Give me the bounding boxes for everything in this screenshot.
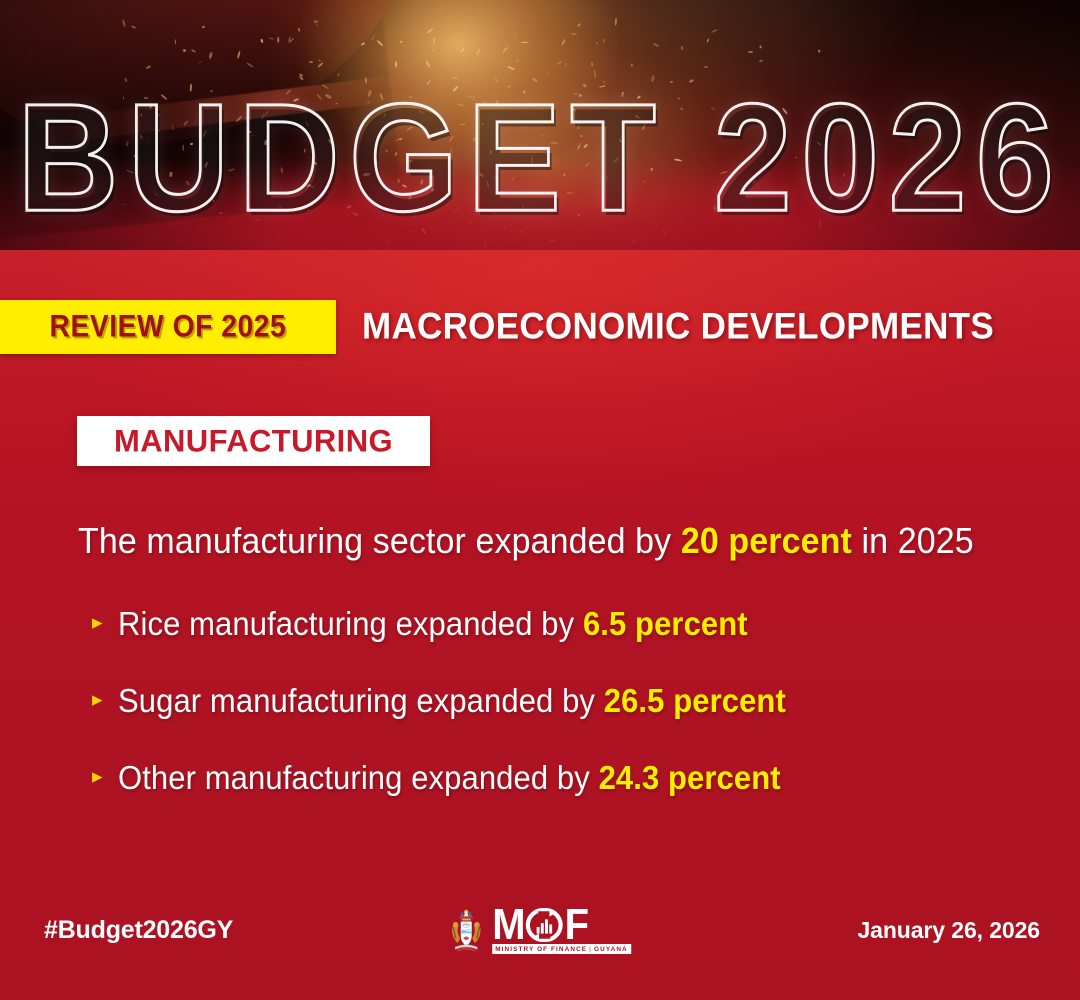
review-year-chip-label: REVIEW OF 2025	[50, 309, 287, 345]
banner-title: MACROECONOMIC DEVELOPMENTS	[336, 299, 1080, 356]
cycle-bar-chart-icon	[526, 908, 564, 942]
triangle-bullet-icon: ▸	[92, 683, 118, 715]
mof-logo-lockup: M	[449, 908, 631, 954]
bullet-highlight-value: 26.5 percent	[604, 682, 786, 719]
budget-infographic-poster: BUDGET 2026 REVIEW OF 2025 MACROECONOMIC…	[0, 0, 1080, 1000]
bullet-text: Sugar manufacturing expanded by 26.5 per…	[118, 683, 786, 719]
section-banner: REVIEW OF 2025 MACROECONOMIC DEVELOPMENT…	[0, 300, 1080, 354]
mof-letters: M	[492, 908, 631, 942]
lede-text-before: The manufacturing sector expanded by	[78, 521, 681, 562]
review-year-chip: REVIEW OF 2025	[0, 300, 336, 354]
bullet-highlight-value: 6.5 percent	[583, 605, 748, 642]
mof-letter-f: F	[565, 907, 588, 944]
bullet-list: ▸ Rice manufacturing expanded by 6.5 per…	[92, 606, 1052, 837]
footer: #Budget2026GY	[0, 890, 1080, 1000]
mof-wordmark: M	[492, 908, 631, 954]
list-item: ▸ Other manufacturing expanded by 24.3 p…	[92, 760, 1052, 796]
lede-statement: The manufacturing sector expanded by 20 …	[78, 521, 1038, 563]
mof-letter-m: M	[492, 907, 524, 944]
bullet-highlight-value: 24.3 percent	[599, 759, 781, 796]
guyana-coat-of-arms-icon	[449, 908, 483, 954]
lede-text-after: in 2025	[852, 521, 974, 562]
bullet-text-before: Rice manufacturing expanded by	[118, 605, 583, 642]
lede-highlight-value: 20 percent	[681, 521, 852, 562]
hashtag-label: #Budget2026GY	[44, 916, 233, 945]
mof-subtitle-country: GUYANA	[594, 946, 628, 953]
bullet-text: Other manufacturing expanded by 24.3 per…	[118, 760, 781, 796]
bullet-text-before: Other manufacturing expanded by	[118, 759, 599, 796]
list-item: ▸ Rice manufacturing expanded by 6.5 per…	[92, 606, 1052, 642]
list-item: ▸ Sugar manufacturing expanded by 26.5 p…	[92, 683, 1052, 719]
section-tag: MANUFACTURING	[77, 416, 430, 466]
triangle-bullet-icon: ▸	[92, 606, 118, 638]
triangle-bullet-icon: ▸	[92, 760, 118, 792]
mof-subtitle-separator: |	[587, 946, 594, 953]
bullet-text-before: Sugar manufacturing expanded by	[118, 682, 604, 719]
section-tag-label: MANUFACTURING	[114, 422, 393, 459]
body-sheen	[0, 250, 1080, 510]
bullet-text: Rice manufacturing expanded by 6.5 perce…	[118, 606, 748, 642]
mof-letter-o-chart-icon	[526, 908, 564, 942]
publication-date: January 26, 2026	[857, 917, 1040, 944]
